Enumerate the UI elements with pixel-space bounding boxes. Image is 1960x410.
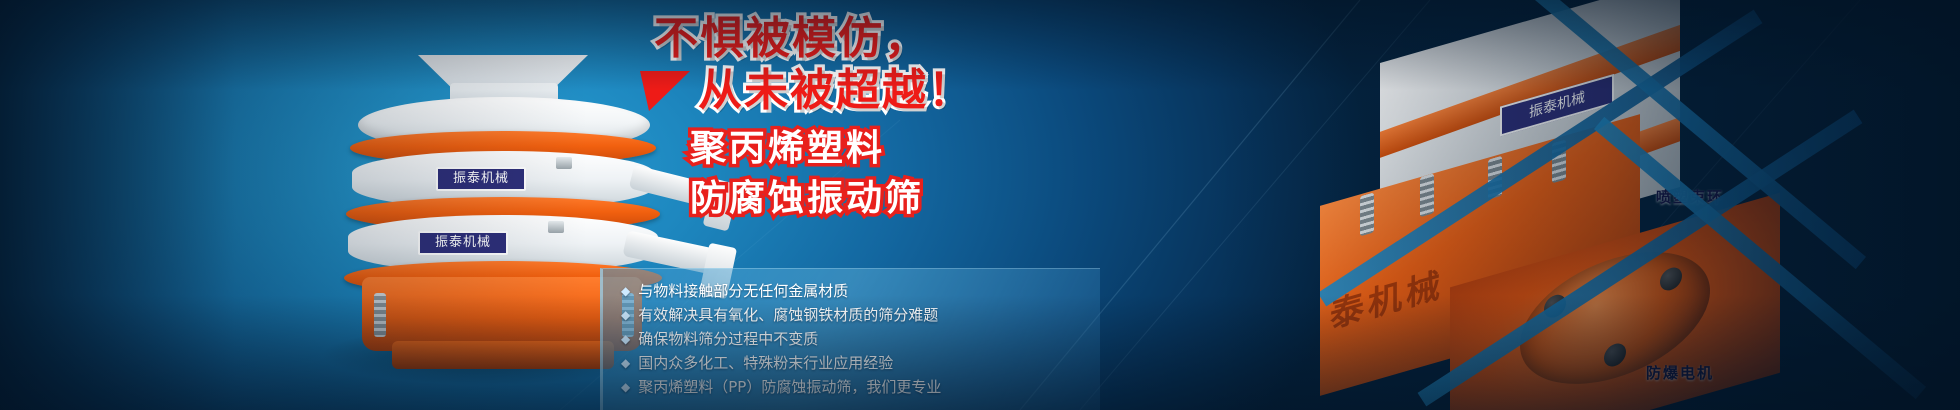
feature-item-4-label: 国内众多化工、特殊粉末行业应用经验 [638, 351, 893, 375]
feature-item-5: ◆ 聚丙烯塑料（PP）防腐蚀振动筛，我们更专业 [621, 375, 1100, 399]
tile-spring-2 [1420, 173, 1434, 217]
subtitle-line-1: 聚丙烯塑料 [690, 126, 924, 172]
feature-item-2: ◆ 有效解决具有氧化、腐蚀钢铁材质的筛分难题 [621, 303, 1100, 327]
tile-motor-bolt-2 [1660, 265, 1682, 293]
diamond-bullet-icon: ◆ [621, 303, 630, 327]
product-photo-collage: 振泰机械 振泰机械 喷塑束环 泰机械 喷塑底板 防爆电机 [1320, 0, 1960, 410]
diamond-bullet-icon: ◆ [621, 351, 630, 375]
feature-item-1-label: 与物料接触部分无任何金属材质 [638, 279, 848, 303]
headline-line-2: 从未被超越！ [698, 66, 974, 116]
diamond-bullet-icon: ◆ [621, 327, 630, 351]
headline-line-2-row: 从未被超越！ [640, 66, 1060, 116]
product-clamp-latch-2 [548, 221, 564, 233]
feature-item-5-label: 聚丙烯塑料（PP）防腐蚀振动筛，我们更专业 [638, 375, 941, 399]
promo-banner: 振泰机械 振泰机械 振泰机械 振泰机械 喷塑束环 泰机械 [0, 0, 1960, 410]
product-motor-base [392, 341, 614, 369]
feature-list-panel: ◆ 与物料接触部分无任何金属材质 ◆ 有效解决具有氧化、腐蚀钢铁材质的筛分难题 … [600, 268, 1100, 410]
feature-item-2-label: 有效解决具有氧化、腐蚀钢铁材质的筛分难题 [638, 303, 938, 327]
headline-line-1: 不惧被模仿， [654, 14, 1060, 64]
feature-item-4: ◆ 国内众多化工、特殊粉末行业应用经验 [621, 351, 1100, 375]
diamond-bullet-icon: ◆ [621, 279, 630, 303]
diamond-bullet-icon: ◆ [621, 375, 630, 399]
product-spring-left [374, 293, 386, 337]
tile-brand-text: 泰机械 [1330, 256, 1444, 338]
feature-item-1: ◆ 与物料接触部分无任何金属材质 [621, 279, 1100, 303]
product-clamp-latch-1 [556, 157, 572, 169]
collage-caption-motor: 防爆电机 [1600, 362, 1760, 383]
feature-item-3: ◆ 确保物料筛分过程中不变质 [621, 327, 1100, 351]
headline-block: 不惧被模仿， 从未被超越！ [640, 14, 1060, 116]
triangle-arrow-icon [640, 71, 690, 111]
feature-item-3-label: 确保物料筛分过程中不变质 [638, 327, 818, 351]
subtitle-block: 聚丙烯塑料 防腐蚀振动筛 [690, 126, 924, 222]
product-brand-plate-top: 振泰机械 [436, 167, 526, 191]
subtitle-line-2: 防腐蚀振动筛 [690, 176, 924, 222]
product-brand-plate-bottom: 振泰机械 [418, 231, 508, 255]
tile-spring-1 [1360, 192, 1374, 236]
